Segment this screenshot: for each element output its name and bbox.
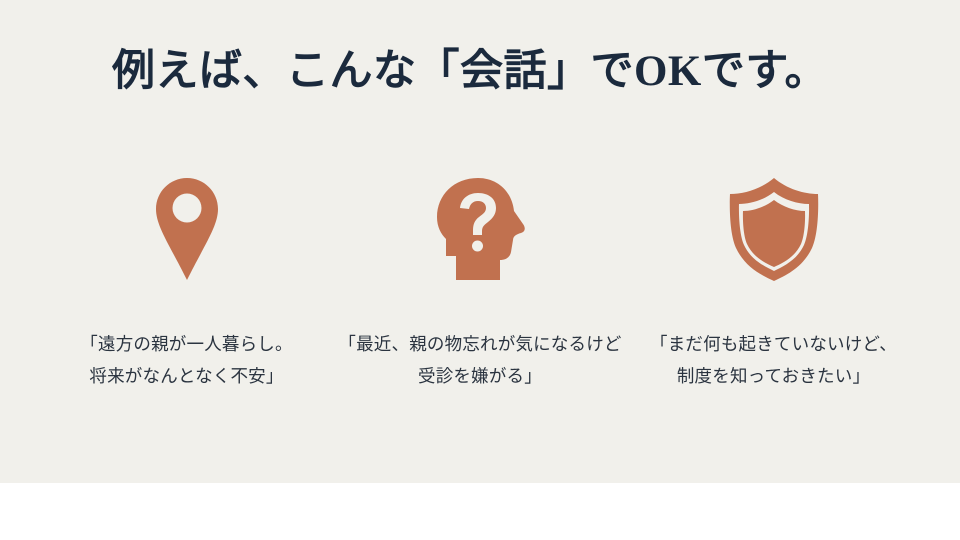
- caption-line-1: 「最近、親の物忘れが気になるけど: [338, 328, 621, 360]
- example-caption-1: 「遠方の親が一人暮らし。 将来がなんとなく不安」: [80, 328, 292, 392]
- shield-icon: [728, 178, 820, 290]
- example-card-1: 「遠方の親が一人暮らし。 将来がなんとなく不安」: [40, 178, 333, 392]
- caption-line-2: 受診を嫌がる」: [338, 360, 621, 392]
- example-caption-2: 「最近、親の物忘れが気になるけど 受診を嫌がる」: [338, 328, 621, 392]
- page-title: 例えば、こんな「会話」でOKです。: [0, 48, 940, 96]
- head-question-icon: [434, 178, 526, 290]
- caption-line-1: 「まだ何も起きていないけど、: [650, 328, 897, 360]
- example-caption-3: 「まだ何も起きていないけど、 制度を知っておきたい」: [650, 328, 897, 392]
- conversation-examples-row: 「遠方の親が一人暮らし。 将来がなんとなく不安」 「最近、親の物忘れが気になるけ…: [40, 178, 920, 392]
- slide-canvas: 例えば、こんな「会話」でOKです。 「遠方の親が一人暮らし。 将来がなんとなく不…: [0, 0, 960, 483]
- bottom-white-strip: [0, 483, 960, 540]
- example-card-3: 「まだ何も起きていないけど、 制度を知っておきたい」: [627, 178, 920, 392]
- map-pin-icon: [156, 178, 218, 290]
- caption-line-2: 制度を知っておきたい」: [650, 360, 897, 392]
- example-card-2: 「最近、親の物忘れが気になるけど 受診を嫌がる」: [334, 178, 627, 392]
- caption-line-1: 「遠方の親が一人暮らし。: [80, 328, 292, 360]
- caption-line-2: 将来がなんとなく不安」: [80, 360, 292, 392]
